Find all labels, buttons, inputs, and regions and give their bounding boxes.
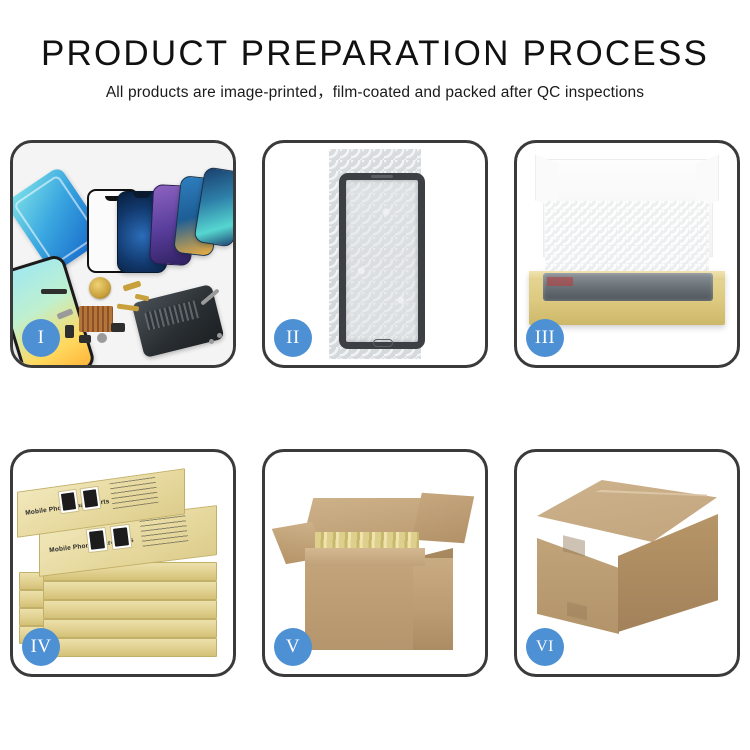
- kraft-box-stack-item: [43, 600, 217, 619]
- process-step-panel-3[interactable]: III: [514, 140, 740, 368]
- process-step-panel-2[interactable]: II: [262, 140, 488, 368]
- box-thumbnail-icon: [86, 527, 109, 553]
- part-module-icon: [111, 323, 125, 332]
- page-title: PRODUCT PREPARATION PROCESS: [0, 34, 750, 74]
- step-badge-6: VI: [526, 628, 564, 666]
- process-step-grid: I II III: [10, 140, 740, 677]
- box-spec-lines: [140, 515, 189, 546]
- process-step-panel-1[interactable]: I: [10, 140, 236, 368]
- carton-front-flap-icon: [305, 548, 425, 566]
- box-thumbnail-icon: [79, 486, 101, 511]
- part-camera-icon: [65, 325, 74, 338]
- foam-padding-icon: [545, 201, 709, 277]
- carton-front-panel-icon: [305, 558, 413, 650]
- screw-icon: [209, 339, 214, 344]
- process-step-panel-5[interactable]: V: [262, 449, 488, 677]
- process-step-panel-4[interactable]: Mobile Phone Spare Parts Mobile Phone Sp…: [10, 449, 236, 677]
- kraft-box-stack-item: [43, 638, 217, 657]
- packed-screen-icon: [543, 273, 713, 301]
- carton-right-flap-icon: [412, 493, 474, 544]
- box-thumbnail-icon: [57, 489, 79, 514]
- page-header: PRODUCT PREPARATION PROCESS All products…: [0, 0, 750, 103]
- bubble-wrap-icon: [329, 149, 421, 359]
- page-subtitle: All products are image-printed，film-coat…: [0, 83, 750, 103]
- step-badge-1: I: [22, 319, 60, 357]
- process-step-panel-6[interactable]: VI: [514, 449, 740, 677]
- kraft-box-stack-item: [43, 581, 217, 600]
- step-badge-4: IV: [22, 628, 60, 666]
- speaker-coil-icon: [89, 277, 111, 299]
- part-button-icon: [97, 333, 107, 343]
- box-thumbnail-icon: [110, 524, 133, 550]
- step-badge-3: III: [526, 319, 564, 357]
- step-badge-5: V: [274, 628, 312, 666]
- step-badge-2: II: [274, 319, 312, 357]
- part-taptic-icon: [79, 335, 91, 343]
- kraft-box-stack-item: [43, 619, 217, 638]
- part-strip-icon: [41, 289, 67, 294]
- wrapped-screen-icon: [339, 173, 425, 349]
- screw-icon: [217, 333, 222, 338]
- chip-grid-icon: [79, 306, 113, 332]
